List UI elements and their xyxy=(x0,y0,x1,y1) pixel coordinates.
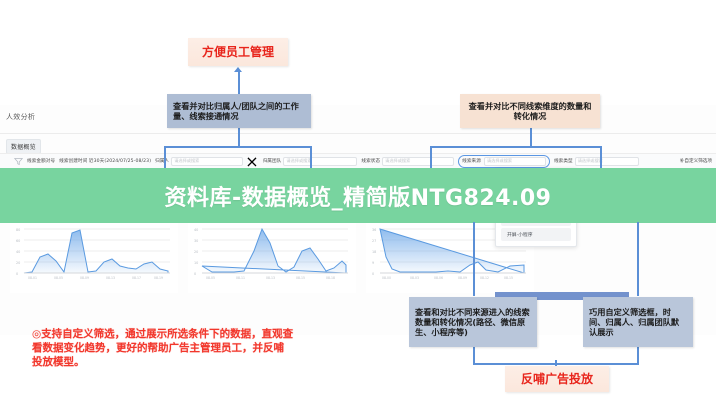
summary-text: 支持自定义筛选，通过展示所选条件下的数据，直观查看数据变化趋势，更好的帮助广告主… xyxy=(32,328,293,368)
funnel-icon[interactable] xyxy=(14,157,23,166)
dropdown-item[interactable]: 开屏·小程序 xyxy=(501,228,571,241)
callout-text: 方便员工管理 xyxy=(202,45,274,60)
filter-toolbar: 线索金额对号 线索创建时间 近30天(2024/07/25-08/23) 归属人… xyxy=(0,153,716,169)
filter-type-input[interactable]: 请选择或搜索 xyxy=(575,157,639,166)
svg-text:27: 27 xyxy=(372,239,376,243)
svg-text:0: 0 xyxy=(194,272,196,276)
chart-card-new-leads: 新增线索量趋势 806040 200 08-0108- xyxy=(10,215,178,293)
svg-text:08-13: 08-13 xyxy=(106,276,115,280)
connector-line xyxy=(600,146,602,168)
svg-text:08-06: 08-06 xyxy=(434,276,443,280)
filter-status-input[interactable]: 请选择或搜索 xyxy=(382,157,454,166)
callout-text: 查看并对比不同线索维度的数量和转化情况 xyxy=(468,101,592,122)
svg-text:40: 40 xyxy=(16,250,20,254)
svg-text:9: 9 xyxy=(372,261,374,265)
svg-text:08-01: 08-01 xyxy=(28,276,37,280)
area-chart: 403020 100 08-0508-1108-13 08-1508-18 xyxy=(188,221,356,291)
svg-text:08-19: 08-19 xyxy=(154,276,163,280)
screenshot-root: 人效分析 数据概览 线索金额对号 线索创建时间 近30天(2024/07/25-… xyxy=(0,0,716,400)
connector-line xyxy=(430,146,600,148)
placeholder-text: 请选择或搜索 xyxy=(385,158,410,164)
chart-card-valid-leads: 有效线索量趋势 403020 100 08-0508- xyxy=(188,215,356,293)
svg-text:08-09: 08-09 xyxy=(80,276,89,280)
filter-amount[interactable]: 线索金额对号 xyxy=(27,158,55,164)
connector-line xyxy=(164,146,166,168)
connector-line xyxy=(637,347,639,363)
svg-text:08-03: 08-03 xyxy=(410,276,419,280)
svg-text:0: 0 xyxy=(16,272,18,276)
svg-text:40: 40 xyxy=(194,228,198,232)
callout-left-box: 查看并对比归属人/团队之间的工作量、线索接通情况 xyxy=(167,94,311,128)
callout-bottom-mid-box: 查看和对比不同来源进入的线索数量和转化情况(路径、微信原生、小程序等) xyxy=(409,297,537,347)
filter-label: 归属人 xyxy=(155,158,169,164)
bullet-icon: ◎ xyxy=(32,327,41,341)
connector-line xyxy=(310,146,312,168)
connector-line xyxy=(164,146,312,148)
svg-text:80: 80 xyxy=(16,228,20,232)
connector-line xyxy=(238,128,240,146)
callout-bottom-right-box: 巧用自定义筛选框，时间、归属人、归属团队默认展示 xyxy=(583,297,693,347)
arrow-up-icon xyxy=(234,67,242,72)
connector-line xyxy=(473,347,475,363)
filter-label: 线索类型 xyxy=(554,158,573,164)
svg-text:0: 0 xyxy=(372,272,374,276)
placeholder-text: 请选择或搜索 xyxy=(487,158,512,164)
callout-text: 查看并对比归属人/团队之间的工作量、线索接通情况 xyxy=(173,101,305,122)
add-custom-filter-button[interactable]: 补自定义筛选项 xyxy=(680,158,716,164)
summary-annotation: ◎支持自定义筛选，通过展示所选条件下的数据，直观查看数据变化趋势，更好的帮助广告… xyxy=(32,327,294,370)
filter-label: 线索创建时间 近30天(2024/07/25-08/23) xyxy=(59,158,151,164)
svg-text:08-18: 08-18 xyxy=(326,276,335,280)
connector-line xyxy=(637,222,639,296)
callout-text: 巧用自定义筛选框，时间、归属人、归属团队默认展示 xyxy=(589,307,687,338)
filter-type[interactable]: 线索类型 请选择或搜索 xyxy=(554,157,639,166)
tab-data-overview[interactable]: 数据概览 xyxy=(6,139,41,154)
filter-source-highlighted[interactable]: 线索来源 请选择或搜索 xyxy=(458,155,550,168)
svg-text:08-17: 08-17 xyxy=(132,276,141,280)
filter-label: 线索金额对号 xyxy=(27,158,55,164)
svg-text:08-13: 08-13 xyxy=(266,276,275,280)
svg-text:30: 30 xyxy=(194,239,198,243)
svg-text:08-05: 08-05 xyxy=(206,276,215,280)
filter-label: 线索状态 xyxy=(361,158,380,164)
svg-text:08-05: 08-05 xyxy=(54,276,63,280)
svg-text:18: 18 xyxy=(372,250,376,254)
svg-text:20: 20 xyxy=(16,261,20,265)
placeholder-text: 请选择或搜索 xyxy=(286,158,311,164)
connector-line xyxy=(530,128,532,146)
connector-line xyxy=(430,146,432,168)
callout-bottom-benefit: 反哺广告投放 xyxy=(505,366,609,392)
connector-line xyxy=(473,222,475,296)
chart-row: 新增线索量趋势 806040 200 08-0108- xyxy=(10,215,534,293)
area-chart: 806040 200 08-0108-0508-09 08-1308-1708-… xyxy=(10,221,178,291)
svg-text:20: 20 xyxy=(194,250,198,254)
filter-team-input[interactable]: 请选择或搜索 xyxy=(283,157,357,166)
svg-text:08-11: 08-11 xyxy=(236,276,245,280)
sidebar-item-performance-analysis[interactable]: 人效分析 xyxy=(6,112,35,122)
callout-text: 查看和对比不同来源进入的线索数量和转化情况(路径、微信原生、小程序等) xyxy=(415,307,531,338)
svg-text:08-15: 08-15 xyxy=(504,276,513,280)
callout-right-box: 查看并对比不同线索维度的数量和转化情况 xyxy=(460,94,600,128)
connector-line xyxy=(238,72,240,94)
divider xyxy=(0,133,716,134)
filter-label: 归属团队 xyxy=(263,158,282,164)
title-banner: 资料库-数据概览_精简版NTG824.09 xyxy=(0,168,716,223)
svg-text:10: 10 xyxy=(194,261,198,265)
callout-text: 反哺广告投放 xyxy=(521,372,593,387)
filter-create-time[interactable]: 线索创建时间 近30天(2024/07/25-08/23) xyxy=(59,158,151,164)
svg-text:08-00: 08-00 xyxy=(382,276,391,280)
svg-text:08-15: 08-15 xyxy=(296,276,305,280)
filter-owner-input[interactable]: 请选择或搜索 xyxy=(171,157,243,166)
svg-text:08-12: 08-12 xyxy=(480,276,489,280)
svg-text:36: 36 xyxy=(372,228,376,232)
callout-top-benefit: 方便员工管理 xyxy=(188,38,288,66)
filter-source-input[interactable]: 请选择或搜索 xyxy=(484,157,546,166)
svg-text:08-09: 08-09 xyxy=(458,276,467,280)
filter-label: 线索来源 xyxy=(462,158,481,164)
page-title: 资料库-数据概览_精简版NTG824.09 xyxy=(164,180,551,212)
filter-status[interactable]: 线索状态 请选择或搜索 xyxy=(361,157,454,166)
svg-text:60: 60 xyxy=(16,239,20,243)
placeholder-text: 请选择或搜索 xyxy=(174,158,199,164)
